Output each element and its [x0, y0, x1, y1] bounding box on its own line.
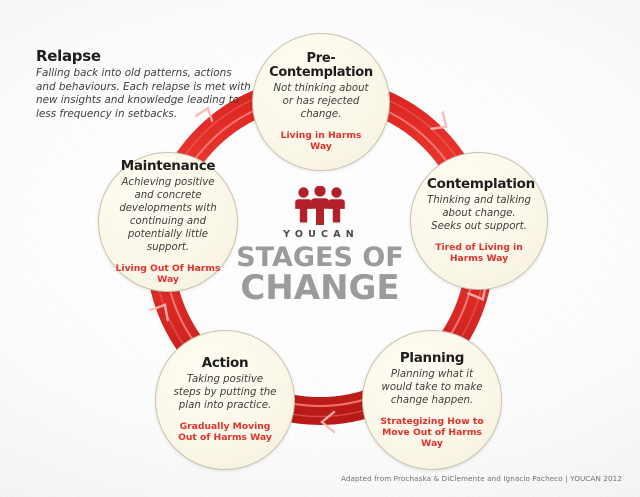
stage-title: Maintenance: [115, 159, 221, 174]
stage-title: Pre-Contemplation: [269, 52, 373, 81]
headline-line-2: CHANGE: [234, 273, 406, 304]
stage-circle-pre-contemplation[interactable]: Pre-Contemplation Not thinking about or …: [252, 33, 390, 171]
relapse-title: Relapse: [36, 47, 252, 65]
stage-sub-label: Strategizing How to Move Out of Harms Wa…: [379, 416, 485, 449]
stage-content: Pre-Contemplation Not thinking about or …: [253, 52, 389, 153]
footer-credit: Adapted from Prochaska & DiClemente and …: [341, 474, 622, 483]
stage-content: Maintenance Achieving positive and concr…: [99, 159, 237, 285]
stage-title: Planning: [379, 351, 485, 366]
youcan-wordmark: YOUCAN: [236, 229, 406, 240]
stage-circle-action[interactable]: Action Taking positive steps by putting …: [155, 330, 295, 470]
stage-relapse: Relapse Falling back into old patterns, …: [36, 47, 252, 122]
stage-circle-maintenance[interactable]: Maintenance Achieving positive and concr…: [98, 152, 238, 292]
stage-circle-planning[interactable]: Planning Planning what it would take to …: [362, 330, 502, 470]
stage-sub-label: Tired of Living in Harms Way: [427, 242, 531, 264]
stages-of-change-infographic: Relapse Falling back into old patterns, …: [0, 0, 640, 497]
center-branding: YOUCAN STAGES OF CHANGE: [234, 186, 406, 304]
stage-content: Contemplation Thinking and talking about…: [411, 177, 547, 264]
stage-description: Thinking and talking about change. Seeks…: [427, 194, 531, 233]
stage-description: Achieving positive and concrete developm…: [115, 176, 221, 254]
relapse-description: Falling back into old patterns, actions …: [36, 67, 252, 122]
stage-description: Taking positive steps by putting the pla…: [172, 373, 278, 412]
stage-content: Action Taking positive steps by putting …: [156, 356, 294, 443]
stage-title: Action: [172, 356, 278, 371]
stage-description: Not thinking about or has rejected chang…: [269, 82, 373, 121]
stage-sub-label: Living Out Of Harms Way: [115, 263, 221, 285]
stage-title: Contemplation: [427, 177, 531, 192]
stage-content: Planning Planning what it would take to …: [363, 351, 501, 449]
stage-sub-label: Gradually Moving Out of Harms Way: [172, 421, 278, 443]
youcan-people-logo-icon: [292, 186, 348, 226]
stage-description: Planning what it would take to make chan…: [379, 368, 485, 407]
stage-circle-contemplation[interactable]: Contemplation Thinking and talking about…: [410, 152, 548, 290]
stage-sub-label: Living in Harms Way: [269, 130, 373, 152]
